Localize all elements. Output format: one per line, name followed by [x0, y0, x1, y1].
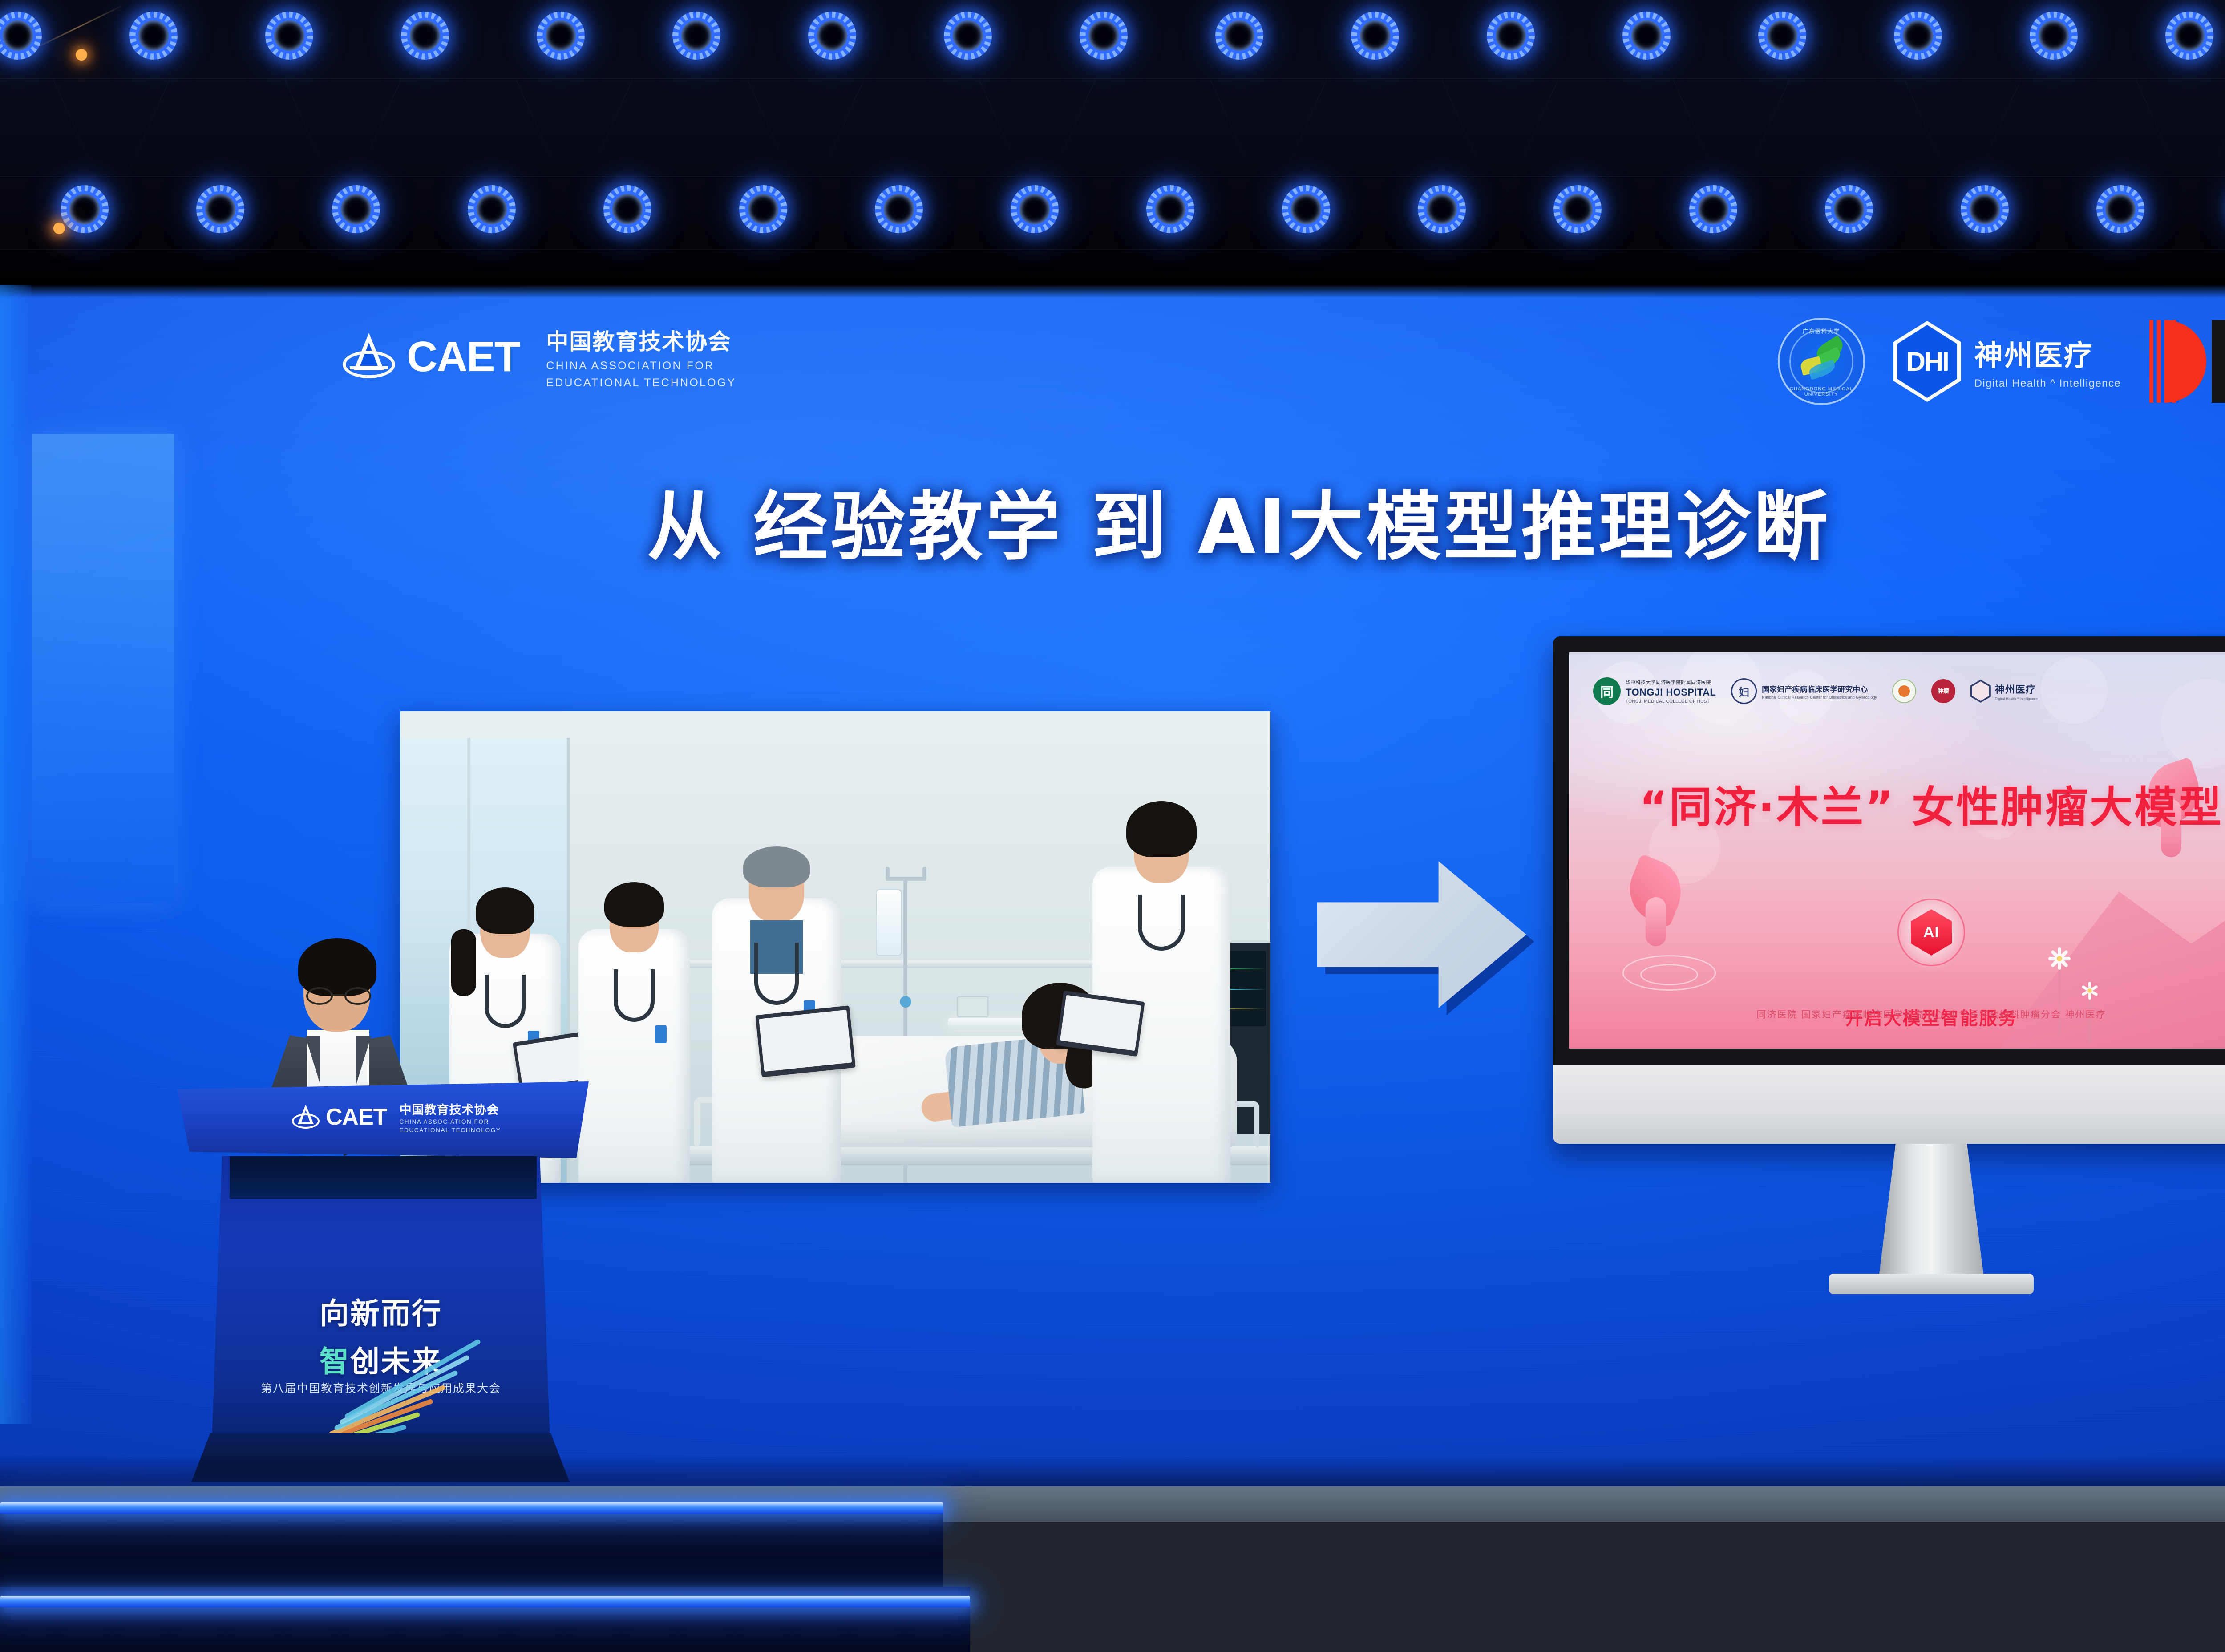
caet-acronym: CAET — [407, 336, 519, 378]
slide-logo-national-center: 妇 国家妇产疾病临床医学研究中心 National Clinical Resea… — [1731, 678, 1877, 704]
backdrop-left-edge — [0, 285, 31, 1424]
guangdong-medical-university-seal-icon: 广东医科大学 GUANGDONG MEDICAL UNIVERSITY — [1778, 318, 1865, 405]
ceiling-truss-diagonal — [2192, 80, 2225, 215]
dhi-logo: DHI 神州医疗 Digital Health ^ Intelligence — [1893, 321, 2121, 402]
tongji-mark-icon: 同 — [1593, 677, 1621, 705]
transition-arrow-icon — [1317, 861, 1526, 1008]
podium-caet-en1: CHINA ASSOCIATION FOR — [400, 1118, 501, 1126]
clipboard — [755, 1005, 855, 1077]
ceiling-ring-light — [1961, 185, 2009, 233]
ceiling-ring-light — [1282, 185, 1330, 233]
slide-logo-dhi: 神州医疗 Digital Health ^ Intelligence — [1970, 680, 2038, 703]
ceiling-ring-light — [129, 12, 178, 60]
caet-emblem-icon — [343, 333, 395, 381]
podium-caet-emblem-icon — [292, 1105, 320, 1130]
partner-logo-group: 广东医科大学 GUANGDONG MEDICAL UNIVERSITY DHI … — [1778, 318, 2225, 405]
conference-stage-photo: CAET 中国教育技术协会 CHINA ASSOCIATION FOR EDUC… — [0, 0, 2225, 1652]
dhi-small-cn: 神州医疗 — [1995, 682, 2038, 696]
caet-name-block: 中国教育技术协会 CHINA ASSOCIATION FOR EDUCATION… — [546, 324, 736, 390]
ceiling-truss-diagonal — [2136, 80, 2196, 215]
ceiling-truss-diagonal — [1210, 80, 1270, 215]
slide-logo-tongji-hospital: 同 华中科技大学同济医学院附属同济医院 TONGJI HOSPITAL TONG… — [1593, 677, 1716, 705]
ceiling-ring-light — [1825, 185, 1873, 233]
ceiling-ring-light — [1689, 185, 1737, 233]
ceiling-truss-diagonal — [1729, 80, 1789, 215]
tongji-en-sub: TONGJI MEDICAL COLLEGE OF HUST — [1626, 699, 1716, 704]
ceiling-ring-light — [875, 185, 923, 233]
ceiling-ring-light — [808, 12, 856, 60]
dhi-mark-text: DHI — [1893, 321, 1961, 402]
gdmu-en-ring-text: GUANGDONG MEDICAL UNIVERSITY — [1780, 386, 1863, 397]
ceiling-truss-diagonal — [804, 80, 864, 215]
gdmu-cn-ring-text: 广东医科大学 — [1780, 327, 1863, 335]
ceiling-ring-light — [1758, 12, 1806, 60]
speaker-glasses-icon — [306, 987, 371, 1005]
monitor-foot — [1829, 1274, 2034, 1294]
ceiling-ring-light — [944, 12, 992, 60]
amber-light-streak-left — [32, 4, 124, 51]
di-brand-mark-icon — [2149, 320, 2225, 403]
ceiling-ring-light — [61, 185, 109, 233]
dhi-small-hexagon-icon — [1970, 680, 1991, 703]
ceiling-ring-light — [1080, 12, 1128, 60]
stage-step-upper — [0, 1505, 943, 1590]
national-center-cn: 国家妇产疾病临床医学研究中心 — [1762, 683, 1877, 694]
caet-en-line2: EDUCATIONAL TECHNOLOGY — [546, 376, 736, 390]
dhi-text-block: 神州医疗 Digital Health ^ Intelligence — [1974, 333, 2121, 390]
ceiling-ring-light — [2165, 12, 2213, 60]
ceiling-ring-light — [739, 185, 787, 233]
monitor-chin — [1553, 1065, 2225, 1144]
national-center-en: National Clinical Research Center for Ob… — [1762, 695, 1877, 700]
caet-logo: CAET 中国教育技术协会 CHINA ASSOCIATION FOR EDUC… — [343, 324, 736, 390]
ai-hexagon-icon: AI — [1911, 909, 1952, 956]
ceiling-ring-light — [332, 185, 380, 233]
backdrop-top-shadow — [0, 285, 2225, 298]
gyn-oncology-seal-icon: 肿瘤 — [1931, 679, 1955, 703]
ceiling-truss-diagonal — [285, 80, 345, 215]
ceiling-ring-light — [1146, 185, 1194, 233]
ceiling-truss-diagonal — [1905, 80, 1965, 215]
slide-ripple-2 — [1640, 964, 1698, 985]
ceiling-ring-light — [1011, 185, 1059, 233]
ceiling-truss-diagonal — [109, 80, 170, 215]
amber-spot-light-left — [76, 49, 87, 61]
presentation-title: 从 经验教学 到 AI大模型推理诊断 — [0, 466, 2225, 575]
ceiling-ring-light — [468, 185, 516, 233]
monitor-screen: 同 华中科技大学同济医学院附属同济医院 TONGJI HOSPITAL TONG… — [1569, 652, 2225, 1049]
ceiling-truss-diagonal — [1498, 80, 1558, 215]
ceiling-ring-light — [196, 185, 244, 233]
podium-slogan-accent-char: 智 — [320, 1344, 350, 1379]
podium-slogan: 向新而行 智创未来 — [212, 1290, 550, 1381]
imac-display: 同 华中科技大学同济医学院附属同济医院 TONGJI HOSPITAL TONG… — [1553, 636, 2225, 1144]
iv-fluid-bag — [876, 889, 902, 956]
monitor-stand — [1879, 1144, 1984, 1277]
dhi-cn-name: 神州医疗 — [1974, 333, 2121, 374]
ceiling-ring-light — [1894, 12, 1942, 60]
stage-right-riser — [917, 1522, 2225, 1652]
ceiling-truss — [0, 0, 2225, 285]
ceiling-ring-light — [265, 12, 313, 60]
senior-doctor — [712, 809, 841, 1183]
ceiling-ring-light — [1487, 12, 1535, 60]
student-doctor-3 — [1092, 773, 1230, 1183]
ceiling-ring-light — [401, 12, 449, 60]
ceiling-ring-light — [672, 12, 720, 60]
stage-step-led-upper — [0, 1502, 943, 1514]
slide-ai-badge: AI — [1881, 875, 1981, 990]
ceiling-truss-diagonal — [516, 80, 576, 215]
ai-badge-label: AI — [1923, 924, 1939, 941]
podium-caet-en2: EDUCATIONAL TECHNOLOGY — [400, 1127, 501, 1134]
ceiling-ring-light — [1418, 185, 1466, 233]
podium-caet-acronym: CAET — [326, 1104, 387, 1130]
caet-cn-name: 中国教育技术协会 — [546, 324, 736, 356]
stage-step-led-lower — [0, 1596, 970, 1607]
ceiling-ring-light — [2030, 12, 2078, 60]
monitor-bezel: 同 华中科技大学同济医学院附属同济医院 TONGJI HOSPITAL TONG… — [1553, 636, 2225, 1144]
ceiling-ring-light — [537, 12, 585, 60]
ceiling-ring-light — [1553, 185, 1602, 233]
dhi-hexagon-icon: DHI — [1893, 321, 1961, 402]
slide-title: “同济·木兰” 女性肿瘤大模型 — [1569, 773, 2225, 834]
clipboard — [1056, 991, 1145, 1057]
slide-footer-organizations: 同济医院 国家妇产疾病临床医学研究中心 中华医学会妇科肿瘤分会 神州医疗 — [1569, 1008, 2225, 1021]
sponsor-logo-bar: CAET 中国教育技术协会 CHINA ASSOCIATION FOR EDUC… — [0, 312, 2225, 436]
tongji-en-name: TONGJI HOSPITAL — [1626, 687, 1716, 698]
slide-daisy-1 — [2049, 948, 2070, 969]
ceiling-ring-light — [1215, 12, 1263, 60]
dhi-small-en: Digital Health ^ Intelligence — [1995, 697, 2038, 701]
speaker-podium: CAET 中国教育技术协会 CHINA ASSOCIATION FOR EDUC… — [177, 1081, 589, 1478]
podium-caet-cn: 中国教育技术协会 — [400, 1100, 501, 1118]
gdmu-wing-icon — [1798, 340, 1845, 382]
cma-seal-icon — [1892, 679, 1916, 703]
podium-conference-name: 第八届中国教育技术创新发展与应用成果大会 — [212, 1380, 550, 1396]
ceiling-ring-light — [1351, 12, 1399, 60]
ceiling-ring-light — [0, 12, 42, 60]
podium-slogan-rest: 创未来 — [350, 1344, 442, 1379]
podium-front-panel: 向新而行 智创未来 第八届中国教育技术创新发展与应用成果大会 — [212, 1156, 550, 1441]
dhi-en-tagline: Digital Health ^ Intelligence — [1974, 377, 2121, 390]
podium-caet-logo: CAET 中国教育技术协会 CHINA ASSOCIATION FOR EDUC… — [292, 1100, 501, 1134]
podium-slogan-line2: 智创未来 — [212, 1338, 550, 1381]
ceiling-ring-light — [1622, 12, 1671, 60]
caet-en-line1: CHINA ASSOCIATION FOR — [546, 359, 736, 373]
student-doctor-2 — [578, 836, 690, 1183]
tongji-cn-small: 华中科技大学同济医学院附属同济医院 — [1626, 679, 1716, 686]
amber-spot-light-left-lower — [53, 223, 65, 234]
podium-shelf-shadow — [230, 1156, 537, 1199]
slide-daisy-2 — [2081, 982, 2098, 999]
national-center-mark-icon: 妇 — [1731, 678, 1757, 704]
slide-partner-logos: 同 华中科技大学同济医学院附属同济医院 TONGJI HOSPITAL TONG… — [1593, 677, 2038, 705]
podium-slogan-line1: 向新而行 — [212, 1290, 550, 1332]
ceiling-ring-light — [603, 185, 651, 233]
ceiling-ring-light — [2096, 185, 2144, 233]
